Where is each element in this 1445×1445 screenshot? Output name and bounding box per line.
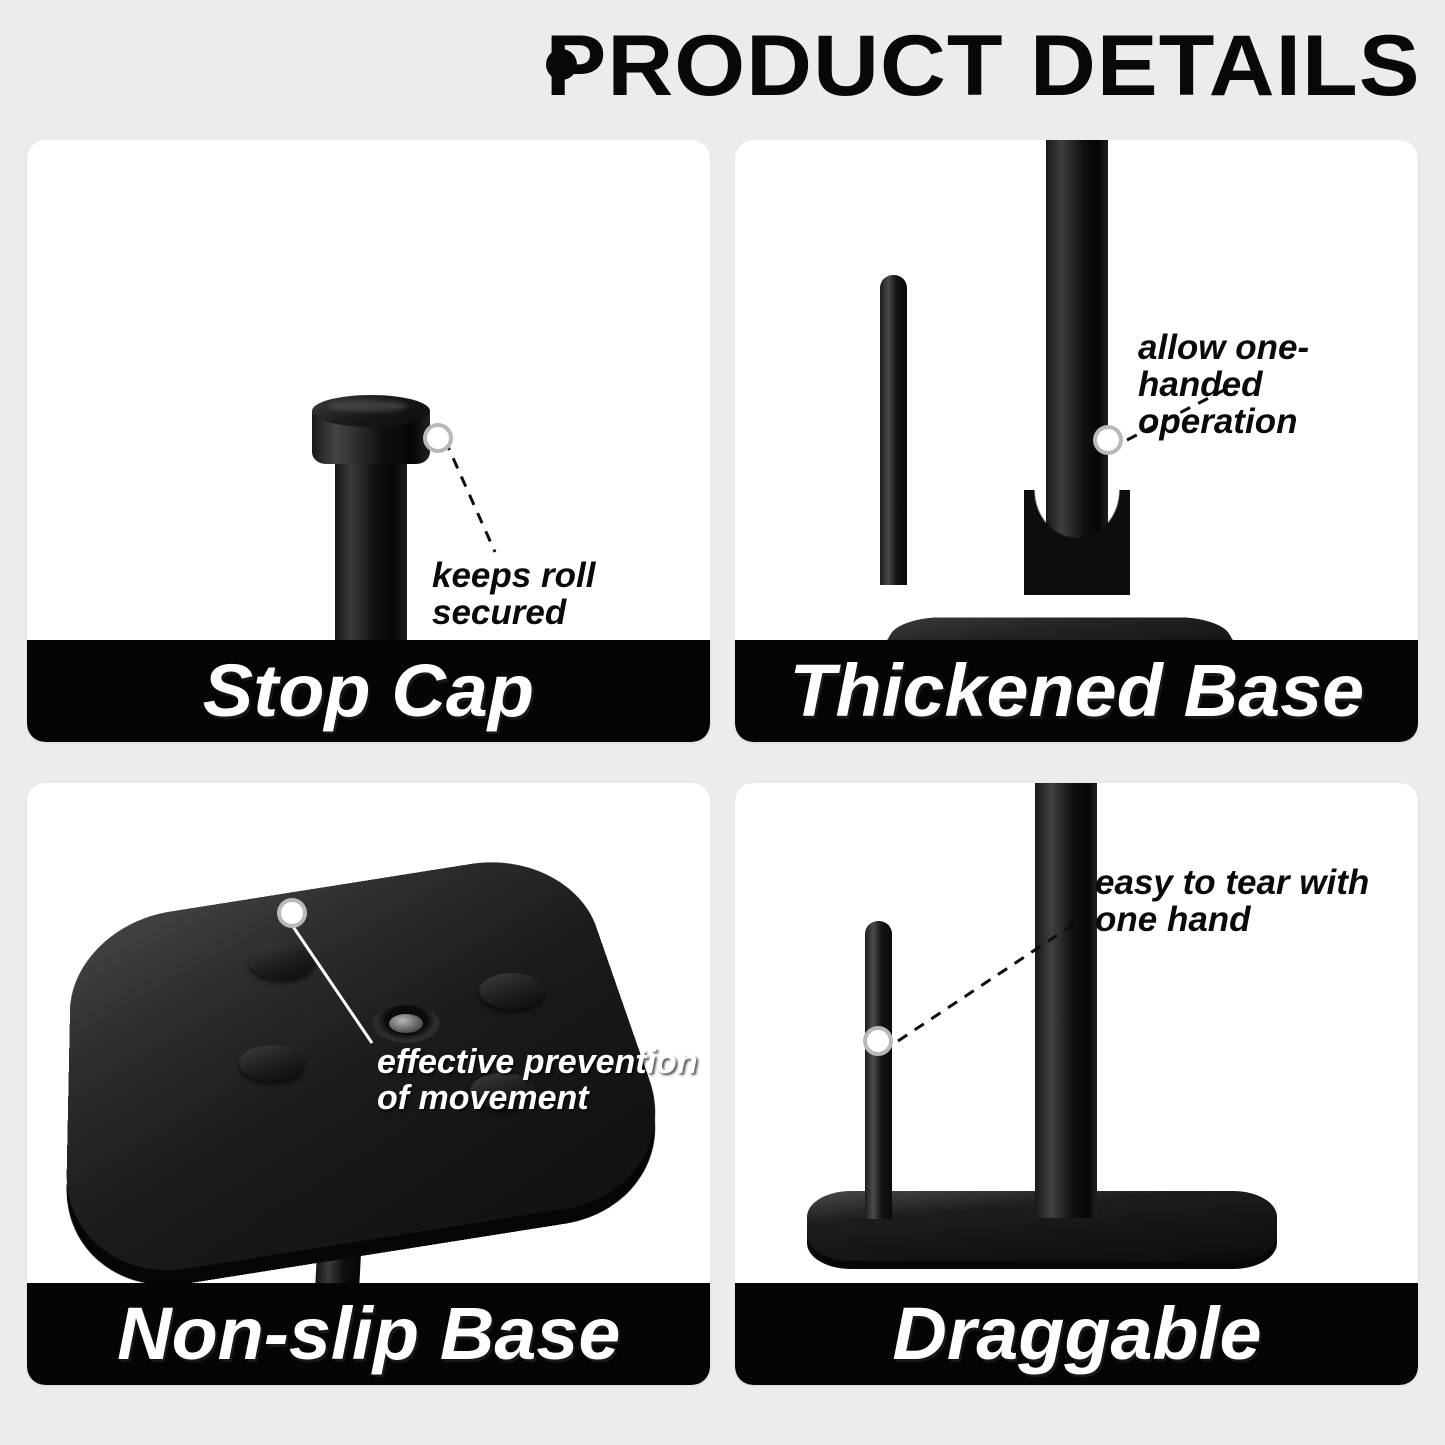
product-side-post <box>880 275 907 585</box>
annotation-draggable: easy to tear with one hand <box>1095 865 1369 939</box>
rubber-foot-pad <box>479 973 545 1009</box>
panel-stop-cap[interactable]: keeps roll secured Stop Cap <box>27 140 710 742</box>
annotation-thickened-base: allow one-handed operation <box>1138 330 1418 440</box>
caption-bar-draggable: Draggable <box>735 1283 1418 1385</box>
caption-label-non-slip-base: Non-slip Base <box>117 1297 620 1371</box>
caption-label-draggable: Draggable <box>892 1297 1261 1371</box>
panel-draggable-image: easy to tear with one hand <box>735 783 1418 1283</box>
marker-dot-draggable <box>863 1026 893 1056</box>
rubber-foot-pad <box>239 1045 305 1081</box>
caption-label-thickened-base: Thickened Base <box>789 654 1364 728</box>
product-thickened-base <box>835 617 1285 640</box>
product-center-post <box>1035 783 1097 1218</box>
product-post-flare <box>1024 490 1130 595</box>
panel-non-slip-base[interactable]: effective prevention of movement Non-sli… <box>27 783 710 1385</box>
caption-bar-thickened-base: Thickened Base <box>735 640 1418 742</box>
caption-bar-non-slip-base: Non-slip Base <box>27 1283 710 1385</box>
product-side-post <box>865 921 892 1219</box>
marker-dot-thickened-base <box>1093 425 1123 455</box>
product-details-infographic: PRODUCT DETAILS keeps roll secured Stop … <box>0 0 1445 1445</box>
annotation-stop-cap: keeps roll secured <box>432 558 710 632</box>
marker-dot-non-slip-base <box>277 898 307 928</box>
panel-stop-cap-image: keeps roll secured <box>27 140 710 640</box>
annotation-non-slip-base: effective prevention of movement <box>377 1045 698 1116</box>
rubber-foot-pad <box>249 943 315 979</box>
screw-head-icon <box>389 1014 423 1033</box>
page-title: PRODUCT DETAILS <box>546 23 1421 109</box>
panel-thickened-base-image: allow one-handed operation <box>735 140 1418 640</box>
product-stop-cap-highlight <box>327 400 407 412</box>
marker-dot-stop-cap <box>423 423 453 453</box>
panel-grid: keeps roll secured Stop Cap allow one-ha… <box>27 140 1418 1385</box>
caption-label-stop-cap: Stop Cap <box>203 654 534 728</box>
page-header: PRODUCT DETAILS <box>0 14 1421 118</box>
panel-thickened-base[interactable]: allow one-handed operation Thickened Bas… <box>735 140 1418 742</box>
caption-bar-stop-cap: Stop Cap <box>27 640 710 742</box>
panel-draggable[interactable]: easy to tear with one hand Draggable <box>735 783 1418 1385</box>
panel-non-slip-base-image: effective prevention of movement <box>27 783 710 1283</box>
product-rod <box>335 450 407 640</box>
